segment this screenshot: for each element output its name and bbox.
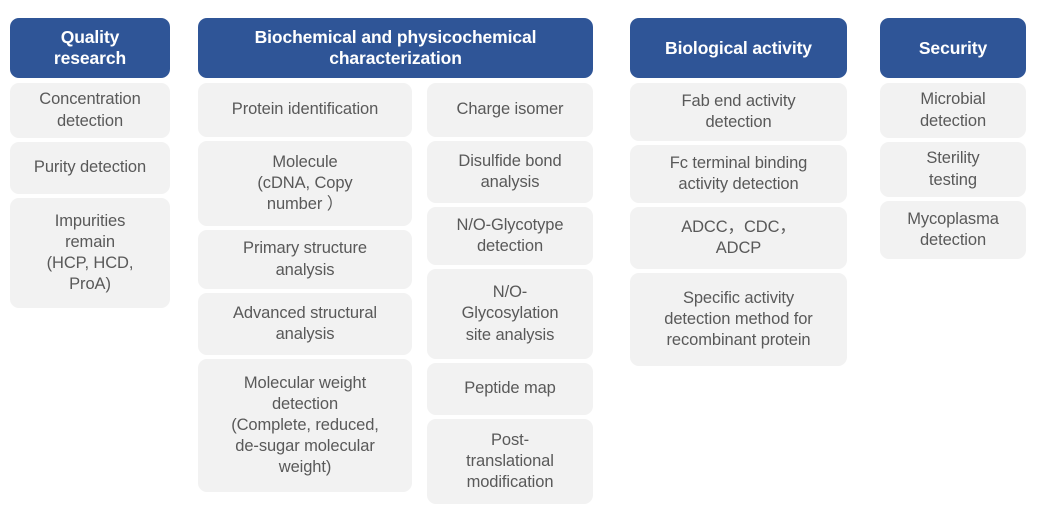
column-header-biochemical-characterization: Biochemical and physicochemical characte… <box>198 18 593 78</box>
subcolumn-security-1: Microbial detection Sterility testing My… <box>880 83 1026 259</box>
column-header-biological-activity: Biological activity <box>630 18 847 78</box>
card-microbial-detection[interactable]: Microbial detection <box>880 83 1026 138</box>
column-header-security: Security <box>880 18 1026 78</box>
column-body-security: Microbial detection Sterility testing My… <box>880 83 1026 259</box>
subcolumn-biochemical-1: Protein identification Molecule (cDNA, C… <box>198 83 412 504</box>
card-mycoplasma-detection[interactable]: Mycoplasma detection <box>880 201 1026 259</box>
card-post-translational-modification[interactable]: Post- translational modification <box>427 419 593 504</box>
subcolumn-biological-activity-1: Fab end activity detection Fc terminal b… <box>630 83 847 366</box>
diagram-board: Quality research Concentration detection… <box>0 0 1037 530</box>
card-fc-terminal-binding-activity-detection[interactable]: Fc terminal binding activity detection <box>630 145 847 203</box>
card-peptide-map[interactable]: Peptide map <box>427 363 593 415</box>
card-protein-identification[interactable]: Protein identification <box>198 83 412 137</box>
card-advanced-structural-analysis[interactable]: Advanced structural analysis <box>198 293 412 355</box>
card-charge-isomer[interactable]: Charge isomer <box>427 83 593 137</box>
subcolumn-quality-research-1: Concentration detection Purity detection… <box>10 83 170 308</box>
card-primary-structure-analysis[interactable]: Primary structure analysis <box>198 230 412 289</box>
card-molecule-cdna-copy-number[interactable]: Molecule (cDNA, Copy number ） <box>198 141 412 226</box>
card-molecular-weight-detection[interactable]: Molecular weight detection (Complete, re… <box>198 359 412 492</box>
card-fab-end-activity-detection[interactable]: Fab end activity detection <box>630 83 847 141</box>
subcolumn-biochemical-2: Charge isomer Disulfide bond analysis N/… <box>427 83 593 504</box>
card-impurities-remain[interactable]: Impurities remain (HCP, HCD, ProA) <box>10 198 170 308</box>
column-quality-research: Quality research Concentration detection… <box>10 18 170 308</box>
card-concentration-detection[interactable]: Concentration detection <box>10 83 170 138</box>
column-biological-activity: Biological activity Fab end activity det… <box>630 18 847 366</box>
column-body-quality-research: Concentration detection Purity detection… <box>10 83 170 308</box>
card-n-o-glycotype-detection[interactable]: N/O-Glycotype detection <box>427 207 593 265</box>
column-body-biological-activity: Fab end activity detection Fc terminal b… <box>630 83 847 366</box>
column-biochemical-characterization: Biochemical and physicochemical characte… <box>198 18 593 504</box>
column-security: Security Microbial detection Sterility t… <box>880 18 1026 259</box>
card-disulfide-bond-analysis[interactable]: Disulfide bond analysis <box>427 141 593 203</box>
card-sterility-testing[interactable]: Sterility testing <box>880 142 1026 197</box>
card-n-o-glycosylation-site-analysis[interactable]: N/O- Glycosylation site analysis <box>427 269 593 359</box>
card-specific-activity-detection-method[interactable]: Specific activity detection method for r… <box>630 273 847 366</box>
column-body-biochemical-characterization: Protein identification Molecule (cDNA, C… <box>198 83 593 504</box>
column-header-quality-research: Quality research <box>10 18 170 78</box>
card-purity-detection[interactable]: Purity detection <box>10 142 170 194</box>
card-adcc-cdc-adcp[interactable]: ADCC，CDC， ADCP <box>630 207 847 269</box>
